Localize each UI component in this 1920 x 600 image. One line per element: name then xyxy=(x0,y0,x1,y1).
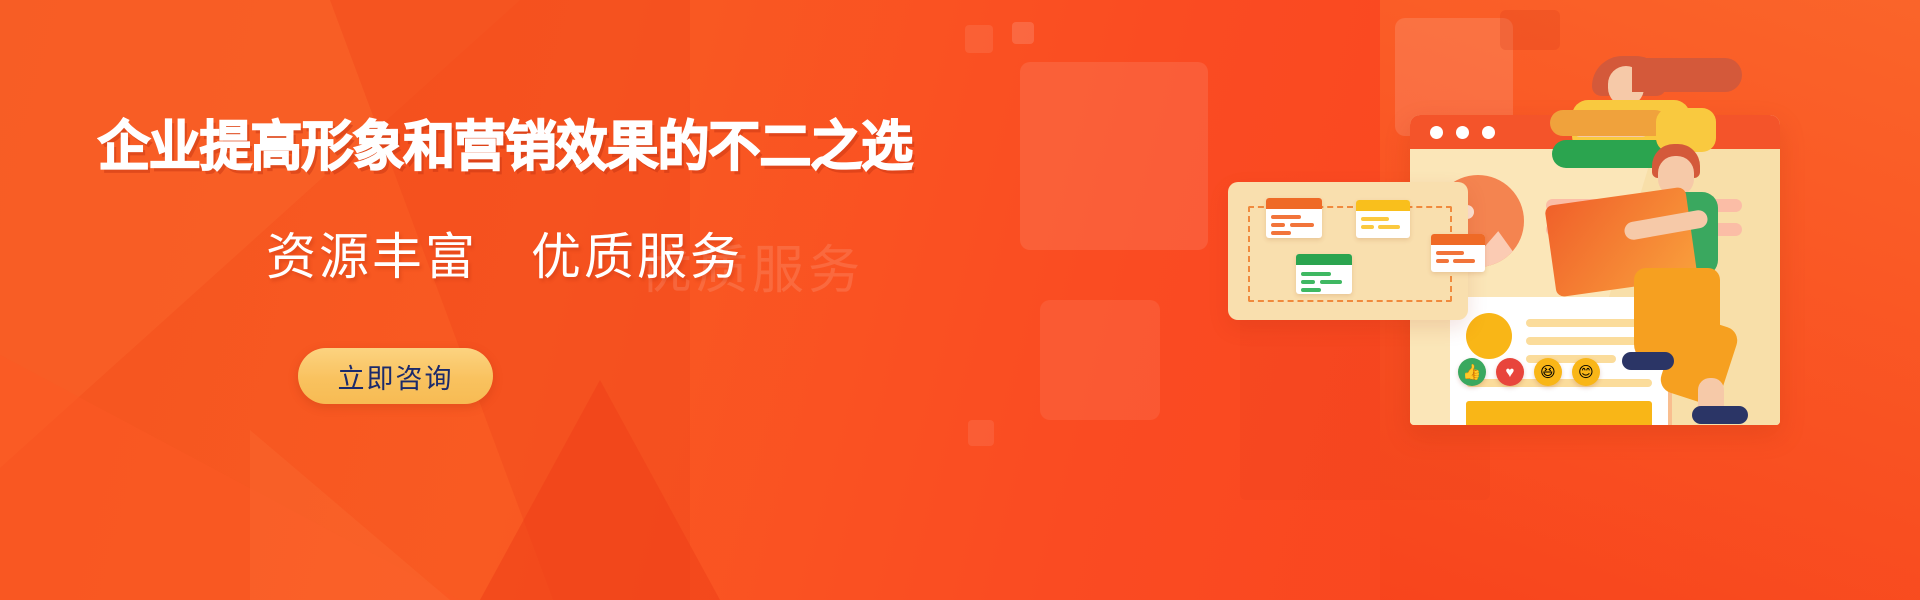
flow-node-line-2 xyxy=(1361,225,1374,229)
consult-now-button[interactable]: 立即咨询 xyxy=(298,348,493,404)
laugh-icon[interactable]: 😆 xyxy=(1534,358,1562,386)
flow-node-header xyxy=(1431,234,1485,245)
flow-node-line-1 xyxy=(1436,251,1464,255)
flow-node-green xyxy=(1296,254,1352,294)
person1-hair xyxy=(1632,58,1742,92)
flow-node-line-3 xyxy=(1378,225,1400,229)
card-line-2 xyxy=(1526,337,1646,345)
flow-node-header xyxy=(1356,200,1410,211)
banner-copy: 企业提高形象和营销效果的不二之选 资源丰富 优质服务 立即咨询 xyxy=(98,120,918,404)
flow-node-line-1 xyxy=(1301,272,1331,276)
hero-illustration: 👍 ♥ 😆 😊 xyxy=(1220,0,1920,600)
flow-node-line-4 xyxy=(1301,288,1321,292)
cta-container: 立即咨询 xyxy=(298,348,918,404)
avatar xyxy=(1466,313,1512,359)
flow-node-line-3 xyxy=(1320,280,1342,284)
reaction-bar: 👍 ♥ 😆 😊 xyxy=(1458,358,1600,386)
promo-banner: 企业提高形象和营销效果的不二之选 资源丰富 优质服务 立即咨询 优质服务 xyxy=(0,0,1920,600)
flow-node-line-2 xyxy=(1271,223,1285,227)
flow-node-line-1 xyxy=(1271,215,1301,219)
person1-book xyxy=(1550,110,1668,136)
flow-node-orange xyxy=(1266,198,1322,238)
window-dot-maximize-icon xyxy=(1482,126,1495,139)
background-square-1 xyxy=(965,25,993,53)
background-triangle-left xyxy=(250,430,450,600)
flow-node-line-2 xyxy=(1301,280,1315,284)
card-line-1 xyxy=(1526,319,1646,327)
window-dot-minimize-icon xyxy=(1456,126,1469,139)
flow-node-yellow xyxy=(1356,200,1410,238)
person2-shoe-left xyxy=(1622,352,1674,370)
flow-node-line-2 xyxy=(1436,259,1449,263)
card-image-block xyxy=(1466,401,1652,425)
background-square-large-1 xyxy=(1020,62,1208,250)
banner-subtitle: 资源丰富 优质服务 xyxy=(266,232,918,282)
flow-node-line-3 xyxy=(1453,259,1475,263)
flow-node-orange-2 xyxy=(1431,234,1485,272)
person2-shoe-right xyxy=(1692,406,1748,424)
background-triangle-center xyxy=(480,380,720,600)
flow-diagram-card xyxy=(1228,182,1468,320)
flow-node-line-4 xyxy=(1271,231,1291,235)
background-square-3 xyxy=(968,420,994,446)
thumbs-up-icon[interactable]: 👍 xyxy=(1458,358,1486,386)
flow-node-header xyxy=(1296,254,1352,265)
page-title: 企业提高形象和营销效果的不二之选 xyxy=(98,120,885,174)
background-square-2 xyxy=(1012,22,1034,44)
flow-node-line-1 xyxy=(1361,217,1389,221)
smile-icon[interactable]: 😊 xyxy=(1572,358,1600,386)
background-square-large-2 xyxy=(1040,300,1160,420)
flow-node-line-3 xyxy=(1290,223,1314,227)
flow-node-header xyxy=(1266,198,1322,209)
heart-icon[interactable]: ♥ xyxy=(1496,358,1524,386)
window-dot-close-icon xyxy=(1430,126,1443,139)
